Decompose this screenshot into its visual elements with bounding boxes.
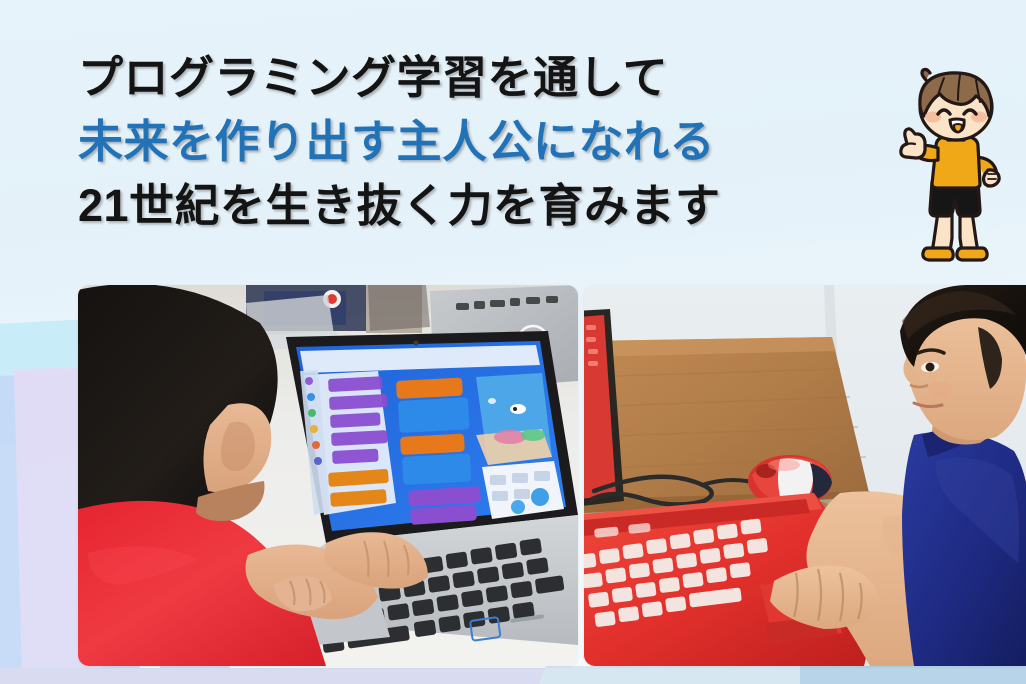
decorative-strip-bottom-blue xyxy=(534,666,846,684)
headline-block: プログラミング学習を通して 未来を作り出す主人公になれる 21世紀を生き抜く力を… xyxy=(78,46,878,238)
photo-boy-red-shirt-laptop: hp xyxy=(78,285,578,666)
headline-line-1: プログラミング学習を通して xyxy=(78,46,878,110)
hero-banner: プログラミング学習を通して 未来を作り出す主人公になれる 21世紀を生き抜く力を… xyxy=(0,0,1026,684)
decorative-strip-bottom-lavender xyxy=(0,668,560,684)
photo-boy-navy-tanktop-red-laptop xyxy=(584,285,1026,666)
decorative-strip-bottom-blue-right xyxy=(800,664,1026,684)
headline-line-2: 未来を作り出す主人公になれる xyxy=(78,110,878,174)
headline-line-3: 21世紀を生き抜く力を育みます xyxy=(78,174,878,238)
thumbs-up-boy-mascot-icon xyxy=(888,62,1020,267)
